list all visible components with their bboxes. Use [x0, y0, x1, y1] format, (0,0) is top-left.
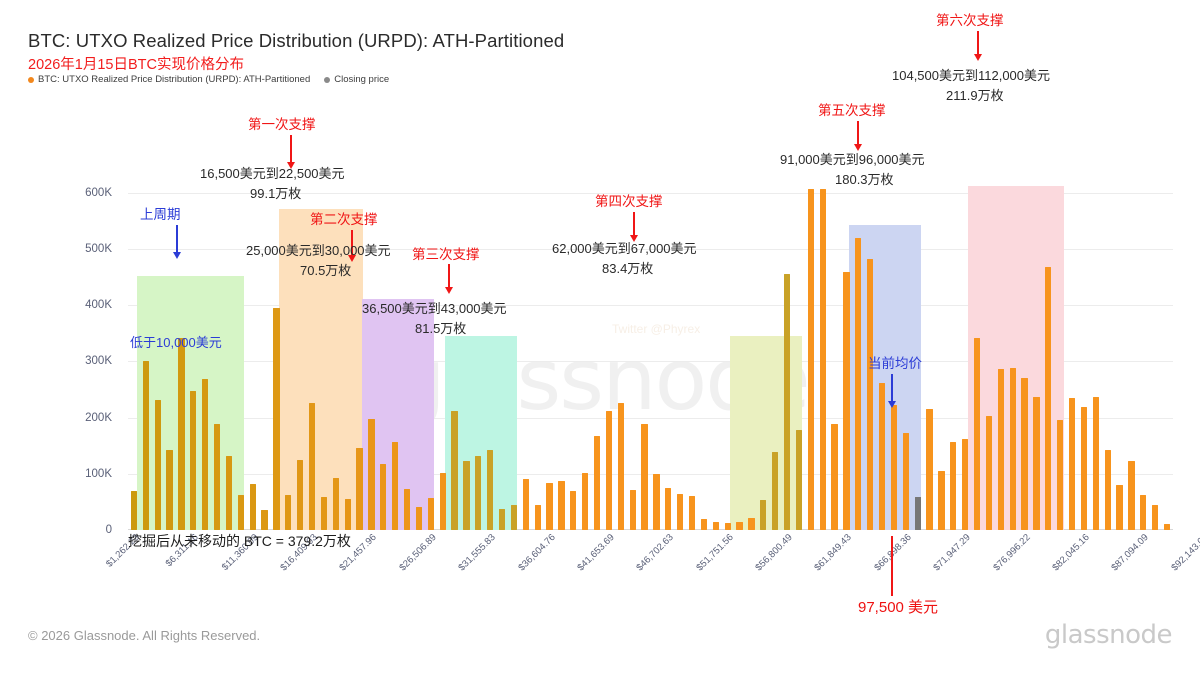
annotation-range-support-2: 25,000美元到30,000美元: [246, 240, 391, 259]
bar[interactable]: [475, 456, 481, 530]
annotation-title-shangzhouqi: 上周期: [140, 203, 181, 223]
bar[interactable]: [143, 361, 149, 530]
x-axis-tick-label: $66,898.36: [872, 532, 913, 573]
bar[interactable]: [1152, 505, 1158, 530]
bar[interactable]: [570, 491, 576, 530]
bar[interactable]: [451, 411, 457, 530]
bar[interactable]: [214, 424, 220, 530]
bar[interactable]: [701, 519, 707, 530]
y-axis-tick-label: 500K: [85, 243, 112, 255]
annotation-title-support-4: 第四次支撑: [595, 190, 663, 210]
bar[interactable]: [1105, 450, 1111, 530]
y-axis-tick-label: 100K: [85, 468, 112, 480]
annotation-arrow-icon: [176, 225, 178, 253]
annotation-range-support-4: 62,000美元到67,000美元: [552, 238, 697, 257]
annotation-amount-support-1: 99.1万枚: [250, 183, 301, 202]
x-axis-tick-label: $76,996.22: [991, 532, 1032, 573]
bar[interactable]: [689, 496, 695, 530]
annotation-title-support-6: 第六次支撑: [936, 9, 1004, 29]
bar[interactable]: [285, 495, 291, 530]
annotation-range-support-6: 104,500美元到112,000美元: [892, 65, 1050, 84]
bar[interactable]: [463, 461, 469, 530]
bar[interactable]: [309, 403, 315, 530]
bar[interactable]: [487, 450, 493, 530]
bar[interactable]: [820, 189, 826, 530]
bar[interactable]: [725, 523, 731, 530]
annotation-title-support-2: 第二次支撑: [310, 208, 378, 228]
y-axis-tick-label: 400K: [85, 299, 112, 311]
bar[interactable]: [926, 409, 932, 531]
annotation-amount-support-6: 211.9万枚: [946, 85, 1004, 104]
annotation-arrow-icon: [633, 212, 635, 236]
bar[interactable]: [974, 338, 980, 530]
bar[interactable]: [784, 274, 790, 530]
bar[interactable]: [499, 509, 505, 530]
bar[interactable]: [345, 499, 351, 530]
bar[interactable]: [178, 338, 184, 530]
bar[interactable]: [618, 403, 624, 530]
bar[interactable]: [843, 272, 849, 530]
bar[interactable]: [831, 424, 837, 530]
annotation-amount-support-5: 180.3万枚: [835, 169, 894, 188]
bar[interactable]: [891, 405, 897, 530]
bar[interactable]: [855, 238, 861, 531]
annotation-amount-support-2: 70.5万枚: [300, 260, 351, 279]
bar[interactable]: [630, 490, 636, 530]
y-axis-tick-label: 0: [106, 524, 112, 536]
annotation-arrow-icon: [290, 135, 292, 163]
x-axis-tick-label: $87,094.09: [1110, 532, 1151, 573]
bar[interactable]: [535, 505, 541, 530]
bar[interactable]: [392, 442, 398, 530]
annotation-arrow-icon: [891, 374, 893, 402]
highlight-band-5: [730, 336, 802, 530]
bar[interactable]: [523, 479, 529, 530]
bar[interactable]: [273, 308, 279, 530]
bar[interactable]: [1021, 378, 1027, 530]
bar[interactable]: [428, 498, 434, 530]
annotation-arrow-icon: [448, 264, 450, 288]
x-axis-tick-label: $51,751.56: [694, 532, 735, 573]
bar[interactable]: [558, 481, 564, 531]
bar[interactable]: [808, 189, 814, 530]
bar[interactable]: [333, 478, 339, 530]
x-axis-tick-label: $46,702.63: [635, 532, 676, 573]
never-moved-note: 挖掘后从未移动的 BTC = 379.2万枚: [128, 531, 351, 551]
closing-price-label: 97,500 美元: [858, 596, 938, 617]
annotation-title-support-1: 第一次支撑: [248, 113, 316, 133]
legend-item-1[interactable]: Closing price: [324, 74, 389, 85]
x-axis-tick-label: $36,604.76: [516, 532, 557, 573]
bar[interactable]: [736, 522, 742, 530]
bar[interactable]: [238, 495, 244, 530]
bar[interactable]: [190, 391, 196, 530]
annotation-range-support-3: 36,500美元到43,000美元: [362, 298, 507, 317]
bar[interactable]: [938, 471, 944, 530]
y-axis-tick-label: 200K: [85, 412, 112, 424]
bar[interactable]: [380, 464, 386, 530]
bar[interactable]: [546, 483, 552, 530]
x-axis-tick-label: $82,045.16: [1050, 532, 1091, 573]
bar[interactable]: [760, 500, 766, 530]
bar[interactable]: [665, 488, 671, 530]
annotation-amount-support-4: 83.4万枚: [602, 258, 653, 277]
bar[interactable]: [772, 452, 778, 530]
bar[interactable]: [202, 379, 208, 530]
bar[interactable]: [321, 497, 327, 530]
annotation-amount-support-3: 81.5万枚: [415, 318, 466, 337]
bar[interactable]: [986, 416, 992, 530]
legend-item-0[interactable]: BTC: UTXO Realized Price Distribution (U…: [28, 74, 310, 85]
legend-swatch-icon: [28, 77, 34, 83]
bar[interactable]: [962, 439, 968, 530]
closing-price-bar[interactable]: [915, 497, 921, 530]
annotation-range-support-5: 91,000美元到96,000美元: [780, 149, 925, 168]
bar[interactable]: [1081, 407, 1087, 530]
bar[interactable]: [131, 491, 137, 530]
bar[interactable]: [796, 430, 802, 530]
x-axis-tick-label: $71,947.29: [932, 532, 973, 573]
y-axis-tick-label: 600K: [85, 187, 112, 199]
chart-legend: BTC: UTXO Realized Price Distribution (U…: [28, 74, 389, 85]
closing-price-callout-line: [891, 536, 893, 596]
bar[interactable]: [1010, 368, 1016, 530]
y-axis-tick-label: 300K: [85, 355, 112, 367]
bar[interactable]: [1069, 398, 1075, 530]
x-axis-tick-label: $92,143.02: [1169, 532, 1200, 573]
annotation-range-support-1: 16,500美元到22,500美元: [200, 163, 345, 182]
bar[interactable]: [226, 456, 232, 530]
chart-page: glassnode Twitter @Phyrex BTC: UTXO Real…: [0, 0, 1200, 675]
bar[interactable]: [594, 436, 600, 531]
bar[interactable]: [511, 505, 517, 530]
bar[interactable]: [867, 259, 873, 530]
annotation-title-support-5: 第五次支撑: [818, 99, 886, 119]
bar[interactable]: [1164, 524, 1170, 530]
legend-label: Closing price: [334, 74, 389, 85]
plot-area: [128, 170, 1173, 530]
bar[interactable]: [998, 369, 1004, 530]
bar[interactable]: [653, 474, 659, 530]
y-axis-labels: 0100K200K300K400K500K600K: [0, 170, 120, 530]
bar[interactable]: [297, 460, 303, 530]
bar[interactable]: [1033, 397, 1039, 530]
annotation-detail-shangzhouqi: 低于10,000美元: [130, 332, 222, 351]
bar[interactable]: [261, 510, 267, 530]
bar[interactable]: [1045, 267, 1051, 530]
bar[interactable]: [1057, 420, 1063, 530]
bar[interactable]: [404, 489, 410, 530]
annotation-arrow-icon: [857, 121, 859, 145]
bar[interactable]: [1116, 485, 1122, 530]
annotation-title-support-3: 第三次支撑: [412, 243, 480, 263]
bar[interactable]: [748, 518, 754, 530]
bar[interactable]: [903, 433, 909, 530]
bar[interactable]: [606, 411, 612, 530]
bar[interactable]: [166, 450, 172, 530]
copyright-text: © 2026 Glassnode. All Rights Reserved.: [28, 628, 260, 643]
x-axis-tick-label: $31,555.83: [457, 532, 498, 573]
page-title: BTC: UTXO Realized Price Distribution (U…: [28, 30, 564, 52]
legend-swatch-icon: [324, 77, 330, 83]
x-axis-tick-label: $26,506.89: [397, 532, 438, 573]
annotation-arrow-icon: [977, 31, 979, 55]
bar[interactable]: [155, 400, 161, 531]
page-subtitle: 2026年1月15日BTC实现价格分布: [28, 53, 244, 74]
annotation-title-current-price: 当前均价: [868, 352, 922, 372]
bar[interactable]: [1140, 495, 1146, 530]
bar[interactable]: [641, 424, 647, 530]
bar[interactable]: [1128, 461, 1134, 530]
bar[interactable]: [416, 507, 422, 530]
bar[interactable]: [356, 448, 362, 530]
x-axis-tick-label: $56,800.49: [753, 532, 794, 573]
glassnode-brand: glassnode: [1045, 620, 1172, 650]
bar[interactable]: [677, 494, 683, 530]
bar[interactable]: [950, 442, 956, 530]
bar[interactable]: [368, 419, 374, 530]
bar[interactable]: [1093, 397, 1099, 530]
bar[interactable]: [440, 473, 446, 530]
bar[interactable]: [250, 484, 256, 530]
bar[interactable]: [713, 522, 719, 530]
bar[interactable]: [879, 383, 885, 530]
x-axis-tick-label: $41,653.69: [575, 532, 616, 573]
legend-label: BTC: UTXO Realized Price Distribution (U…: [38, 74, 310, 85]
bar[interactable]: [582, 473, 588, 530]
x-axis-tick-label: $61,849.43: [813, 532, 854, 573]
